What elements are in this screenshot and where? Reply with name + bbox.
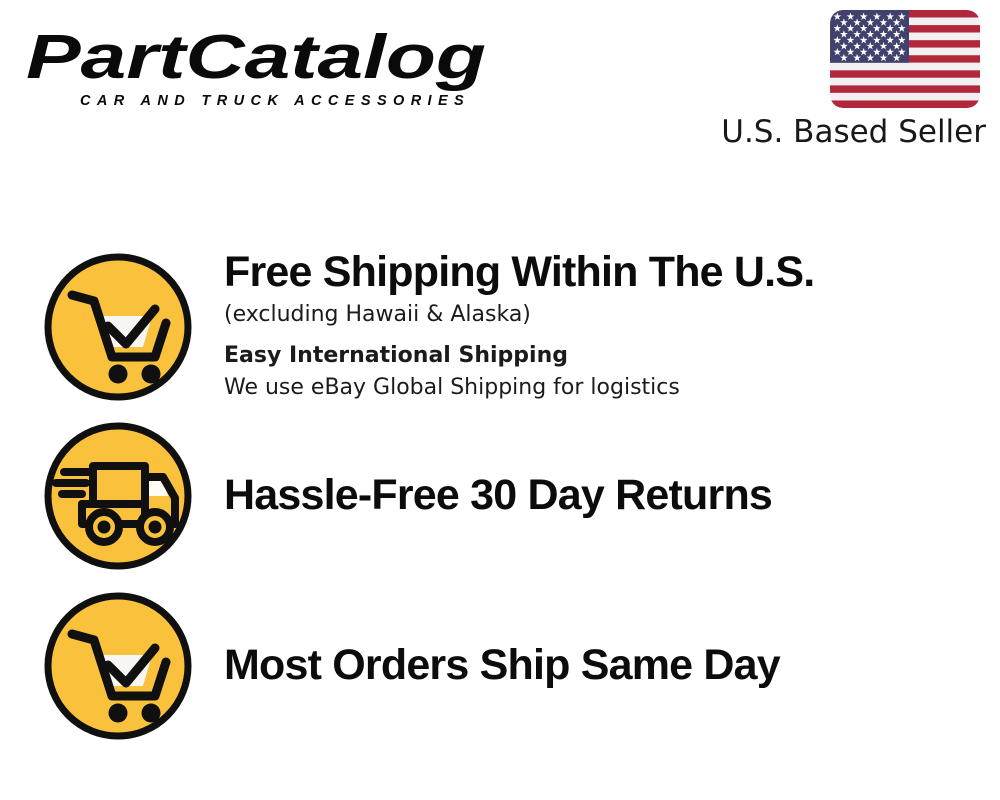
- benefit-row: Free Shipping Within The U.S. (excluding…: [42, 250, 982, 405]
- benefit-row: Most Orders Ship Same Day: [42, 590, 982, 742]
- benefit-subtitle-international: Easy International Shipping: [224, 341, 982, 371]
- benefit-text-block: Free Shipping Within The U.S. (excluding…: [224, 250, 982, 405]
- partcatalog-wordmark-icon: PartCatalog: [24, 20, 490, 92]
- benefit-title: Hassle-Free 30 Day Returns: [224, 473, 982, 518]
- shopping-cart-check-icon: [42, 590, 194, 742]
- brand-tagline: CAR AND TRUCK ACCESSORIES: [80, 94, 494, 109]
- seller-label: U.S. Based Seller: [708, 116, 986, 149]
- promo-banner: PartCatalog CAR AND TRUCK ACCESSORIES: [0, 0, 1000, 800]
- benefit-title: Most Orders Ship Same Day: [224, 643, 982, 688]
- delivery-truck-icon: [42, 420, 194, 572]
- brand-logo: PartCatalog CAR AND TRUCK ACCESSORIES: [24, 20, 494, 109]
- wordmark-text: PartCatalog: [26, 23, 486, 92]
- benefit-title: Free Shipping Within The U.S.: [224, 250, 982, 295]
- benefit-subtitle-exclusions: (excluding Hawaii & Alaska): [224, 300, 982, 330]
- seller-badge: U.S. Based Seller: [708, 10, 988, 149]
- banner-header: PartCatalog CAR AND TRUCK ACCESSORIES: [0, 0, 1000, 175]
- us-flag-icon: [830, 10, 980, 108]
- shopping-cart-check-icon: [42, 251, 194, 403]
- benefit-text-block: Hassle-Free 30 Day Returns: [224, 473, 982, 520]
- benefit-row: Hassle-Free 30 Day Returns: [42, 420, 982, 572]
- benefit-subtitle-logistics: We use eBay Global Shipping for logistic…: [224, 373, 982, 403]
- benefit-text-block: Most Orders Ship Same Day: [224, 643, 982, 690]
